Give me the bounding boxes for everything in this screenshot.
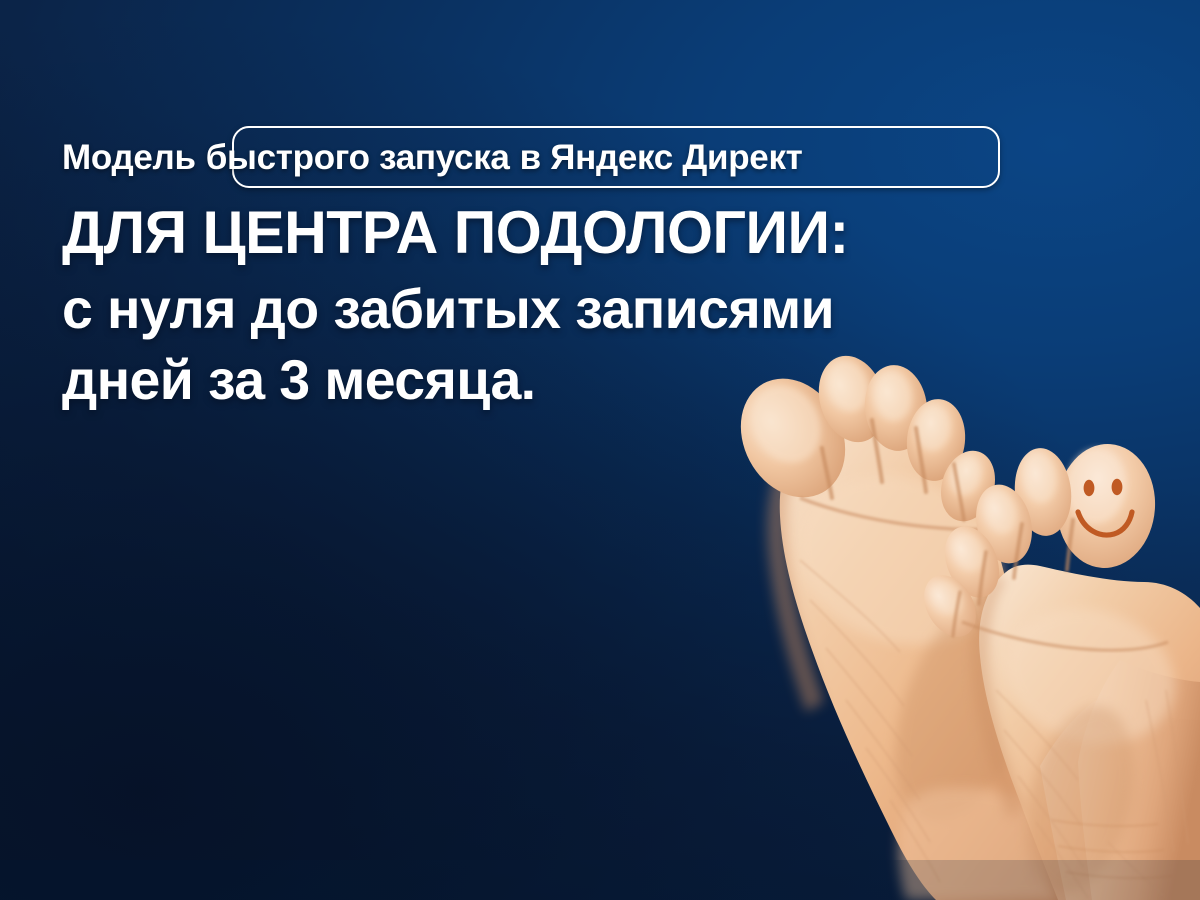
eyebrow-prefix: Модель bbox=[62, 140, 196, 175]
eyebrow-highlight: быстрого запуска bbox=[206, 140, 510, 175]
eyebrow-row: Модель быстрого запуска в Яндекс Директ bbox=[62, 127, 803, 187]
poster-canvas: Модель быстрого запуска в Яндекс Директ … bbox=[0, 0, 1200, 900]
headline-line-3: дней за 3 месяца. bbox=[62, 352, 535, 408]
eyebrow-suffix: в Яндекс Директ bbox=[520, 140, 803, 175]
headline-line-1: ДЛЯ ЦЕНТРА ПОДОЛОГИИ: bbox=[62, 203, 849, 263]
headline-line-2: с нуля до забитых записями bbox=[62, 281, 834, 337]
